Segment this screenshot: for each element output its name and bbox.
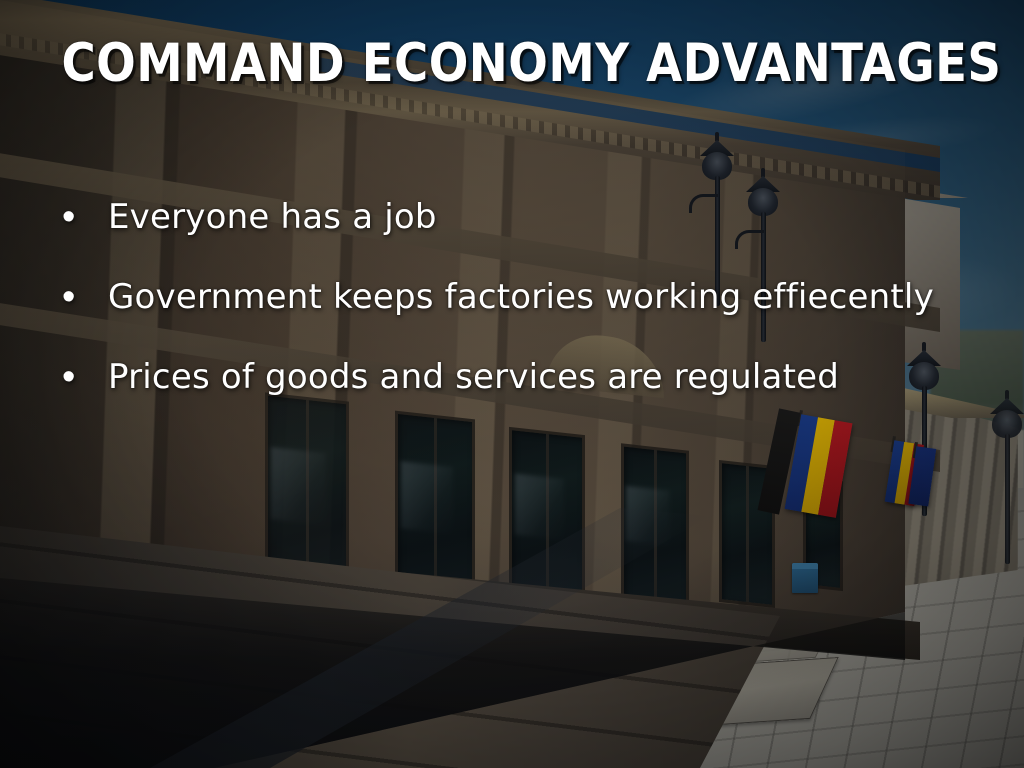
bullet-item: • Prices of goods and services are regul… [62,356,1004,398]
slide-content: COMMAND ECONOMY ADVANTAGES • Everyone ha… [0,0,1024,768]
presentation-slide: COMMAND ECONOMY ADVANTAGES • Everyone ha… [0,0,1024,768]
bullet-text: Government keeps factories working effie… [108,276,934,318]
bullet-marker-icon: • [62,196,108,238]
bullet-text: Prices of goods and services are regulat… [108,356,839,398]
bullet-marker-icon: • [62,276,108,318]
bullet-item: • Government keeps factories working eff… [62,276,1004,318]
bullet-item: • Everyone has a job [62,196,1004,238]
bullet-text: Everyone has a job [108,196,437,238]
bullet-list: • Everyone has a job • Government keeps … [62,196,1004,436]
slide-title: COMMAND ECONOMY ADVANTAGES [61,36,962,92]
bullet-marker-icon: • [62,356,108,398]
